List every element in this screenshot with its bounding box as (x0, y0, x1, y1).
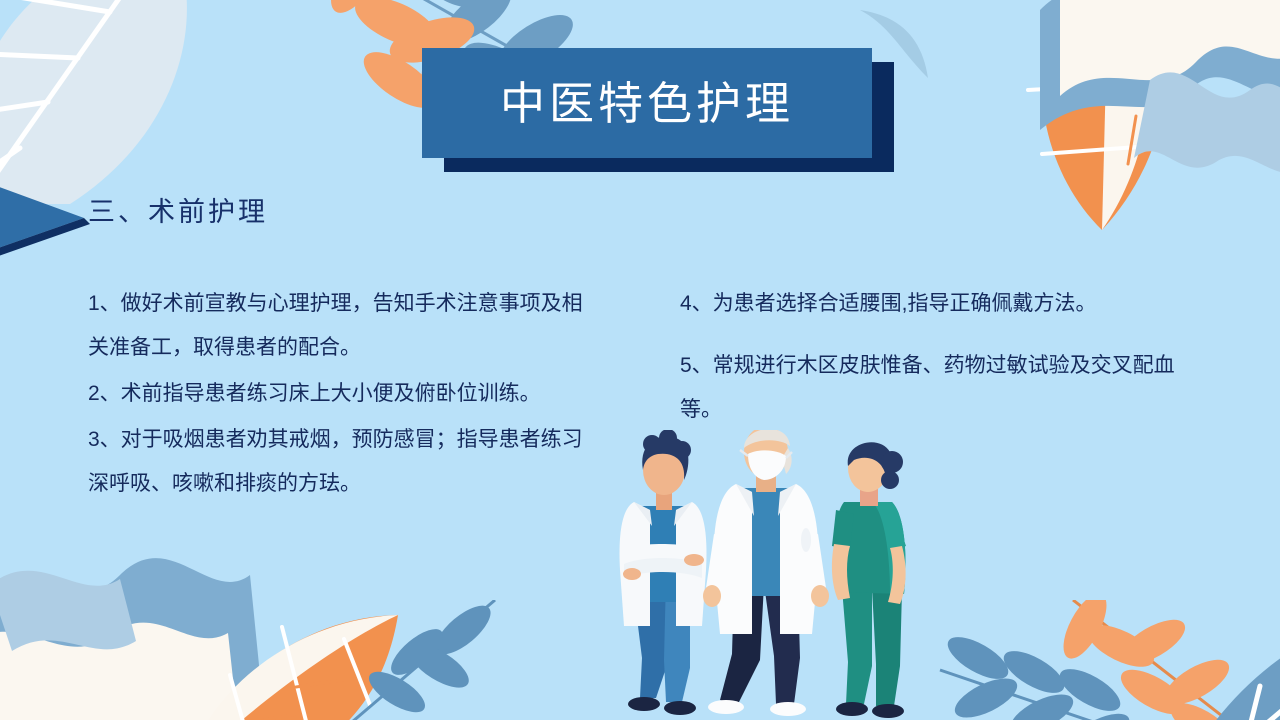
section-heading: 三、术前护理 (88, 190, 268, 229)
wave-shape-top-right-icon (1030, 0, 1280, 190)
orange-leaf-top-right-icon (970, 0, 1230, 240)
body-column-left: 1、做好术前宣教与心理护理，告知手术注意事项及相关准备工，取得患者的配合。 2、… (88, 282, 588, 508)
body-paragraph: 3、对于吸烟患者劝其戒烟，预防感冒；指导患者练习深呼吸、咳嗽和排痰的方珐。 (88, 418, 588, 506)
body-paragraph: 1、做好术前宣教与心理护理，告知手术注意事项及相关准备工，取得患者的配合。 (88, 282, 588, 370)
medical-staff-illustration (594, 430, 934, 720)
page-title: 中医特色护理 (500, 81, 794, 126)
blue-sprig-bottom-left-icon (305, 600, 505, 720)
orange-sprig-bottom-right-icon (1055, 600, 1280, 720)
slide-canvas: 中医特色护理 三、术前护理 1、做好术前宣教与心理护理，告知手术注意事项及相关准… (0, 0, 1280, 720)
body-column-right: 4、为患者选择合适腰围,指导正确佩戴方法。 5、常规进行木区皮肤惟备、药物过敏试… (680, 282, 1200, 450)
body-paragraph: 4、为患者选择合适腰围,指导正确佩戴方法。 (680, 282, 1200, 326)
blue-leaf-bottom-right-icon (1160, 592, 1280, 720)
blue-sprig-bottom-right-icon (930, 630, 1210, 720)
section-arrow-icon (0, 168, 90, 264)
title-box: 中医特色护理 (422, 48, 872, 158)
figure-nurse-teal-scrubs (832, 442, 906, 718)
body-paragraph: 5、常规进行木区皮肤惟备、药物过敏试验及交叉配血等。 (680, 344, 1200, 432)
orange-leaf-bottom-left-icon (160, 595, 420, 720)
body-paragraph: 2、术前指导患者练习床上大小便及俯卧位训练。 (88, 372, 588, 416)
figure-doctor-arms-crossed (620, 430, 707, 715)
figure-senior-doctor-masked (703, 430, 829, 716)
wave-shape-bottom-left-icon (0, 545, 310, 720)
